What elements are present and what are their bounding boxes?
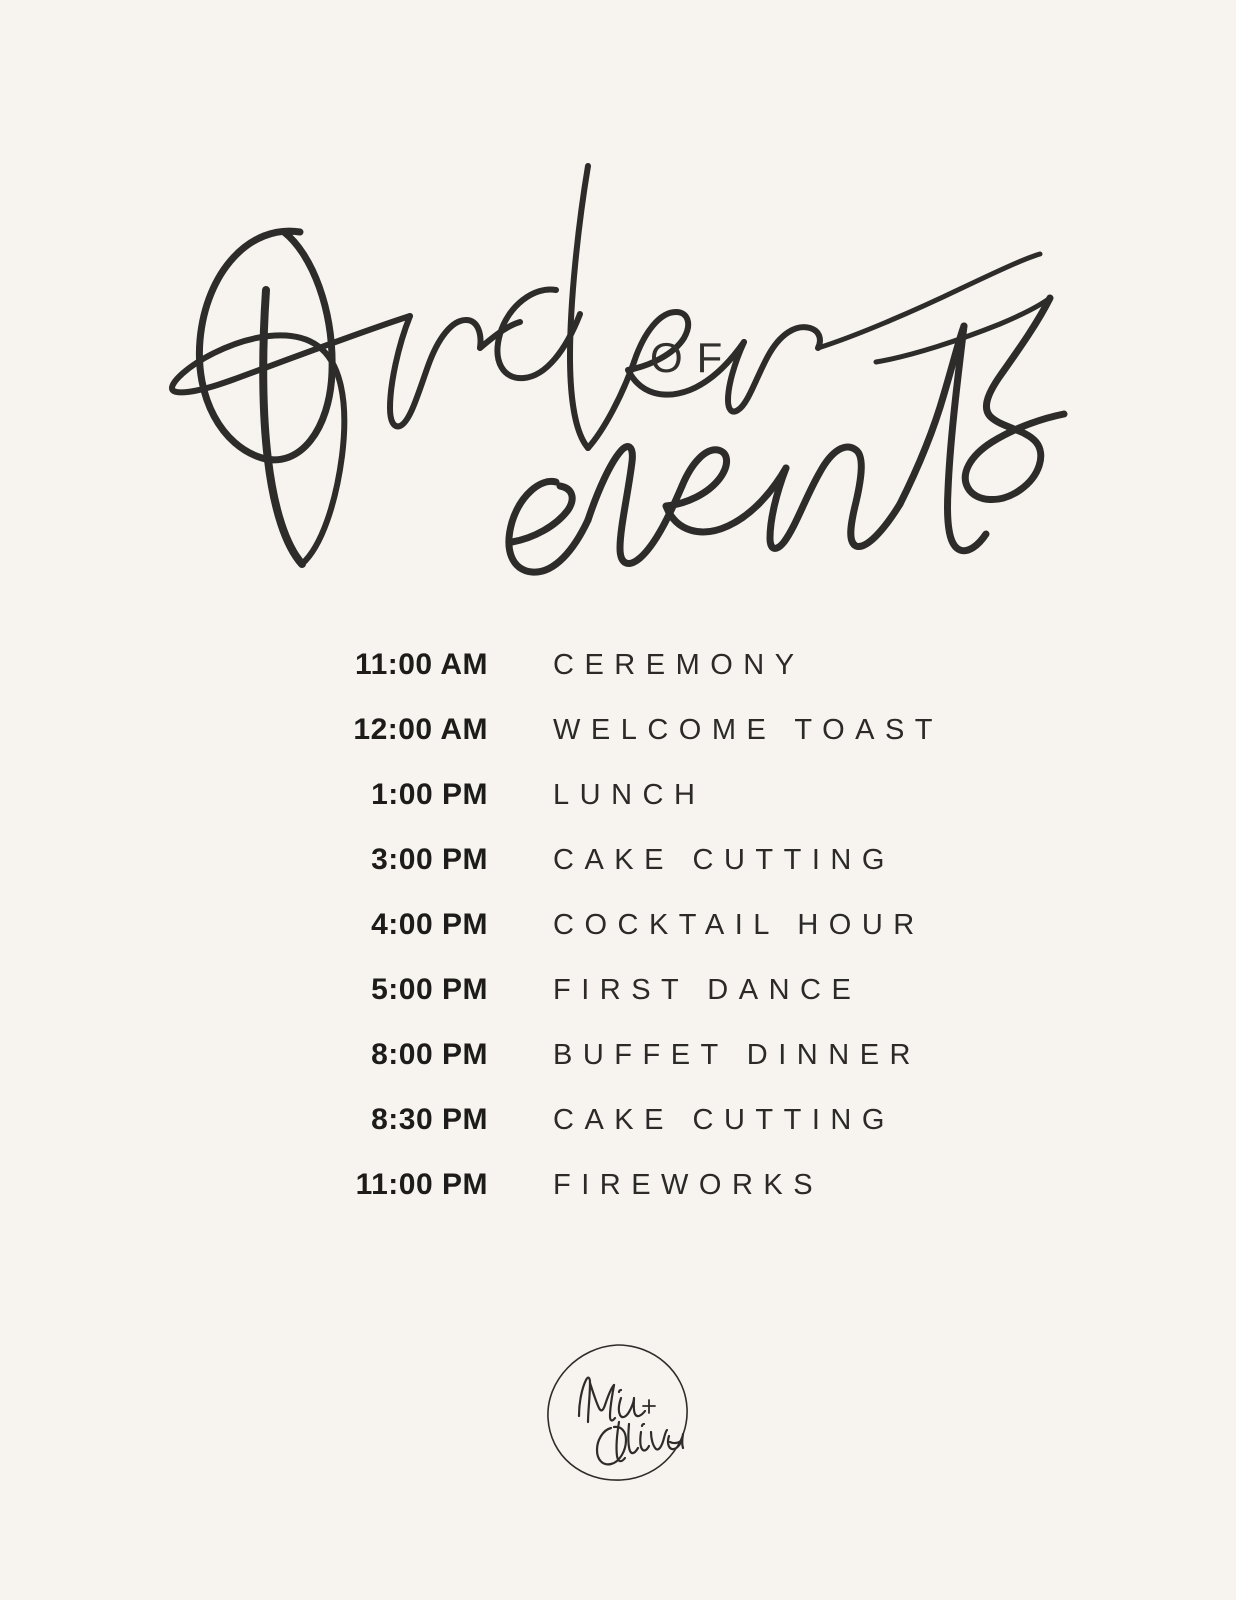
event-time: 8:00 PM — [0, 1038, 488, 1072]
schedule-row: 11:00 AM CEREMONY — [0, 648, 1236, 713]
event-name: COCKTAIL HOUR — [553, 909, 925, 942]
event-time: 3:00 PM — [0, 843, 488, 877]
monogram-name-1-icon — [579, 1378, 645, 1422]
event-name: CAKE CUTTING — [553, 1104, 895, 1137]
title-small-word: OF — [650, 334, 736, 381]
event-name: BUFFET DINNER — [553, 1039, 921, 1072]
schedule-row: 8:00 PM BUFFET DINNER — [0, 1038, 1236, 1103]
order-of-events-poster: OF 11:00 AM — [0, 0, 1236, 1600]
schedule-list: 11:00 AM CEREMONY 12:00 AM WELCOME TOAST… — [0, 648, 1236, 1233]
event-time: 8:30 PM — [0, 1103, 488, 1137]
event-name: WELCOME TOAST — [553, 714, 943, 747]
schedule-row: 11:00 PM FIREWORKS — [0, 1168, 1236, 1233]
schedule-row: 8:30 PM CAKE CUTTING — [0, 1103, 1236, 1168]
schedule-row: 5:00 PM FIRST DANCE — [0, 973, 1236, 1038]
event-name: FIREWORKS — [553, 1169, 823, 1202]
event-name: CAKE CUTTING — [553, 844, 895, 877]
event-time: 4:00 PM — [0, 908, 488, 942]
script-word-order-icon — [172, 166, 1040, 564]
event-name: FIRST DANCE — [553, 974, 861, 1007]
monogram-artwork — [533, 1330, 703, 1500]
schedule-row: 4:00 PM COCKTAIL HOUR — [0, 908, 1236, 973]
script-word-events-icon — [509, 298, 1064, 572]
monogram-name-2-icon — [597, 1422, 683, 1464]
event-name: LUNCH — [553, 779, 705, 812]
event-time: 5:00 PM — [0, 973, 488, 1007]
event-time: 11:00 AM — [0, 648, 488, 682]
monogram — [533, 1330, 703, 1500]
schedule-row: 12:00 AM WELCOME TOAST — [0, 713, 1236, 778]
event-time: 1:00 PM — [0, 778, 488, 812]
schedule-row: 1:00 PM LUNCH — [0, 778, 1236, 843]
schedule-row: 3:00 PM CAKE CUTTING — [0, 843, 1236, 908]
event-time: 11:00 PM — [0, 1168, 488, 1202]
page-title: OF — [0, 150, 1236, 580]
event-time: 12:00 AM — [0, 713, 488, 747]
event-name: CEREMONY — [553, 649, 805, 682]
title-artwork: OF — [0, 150, 1236, 580]
